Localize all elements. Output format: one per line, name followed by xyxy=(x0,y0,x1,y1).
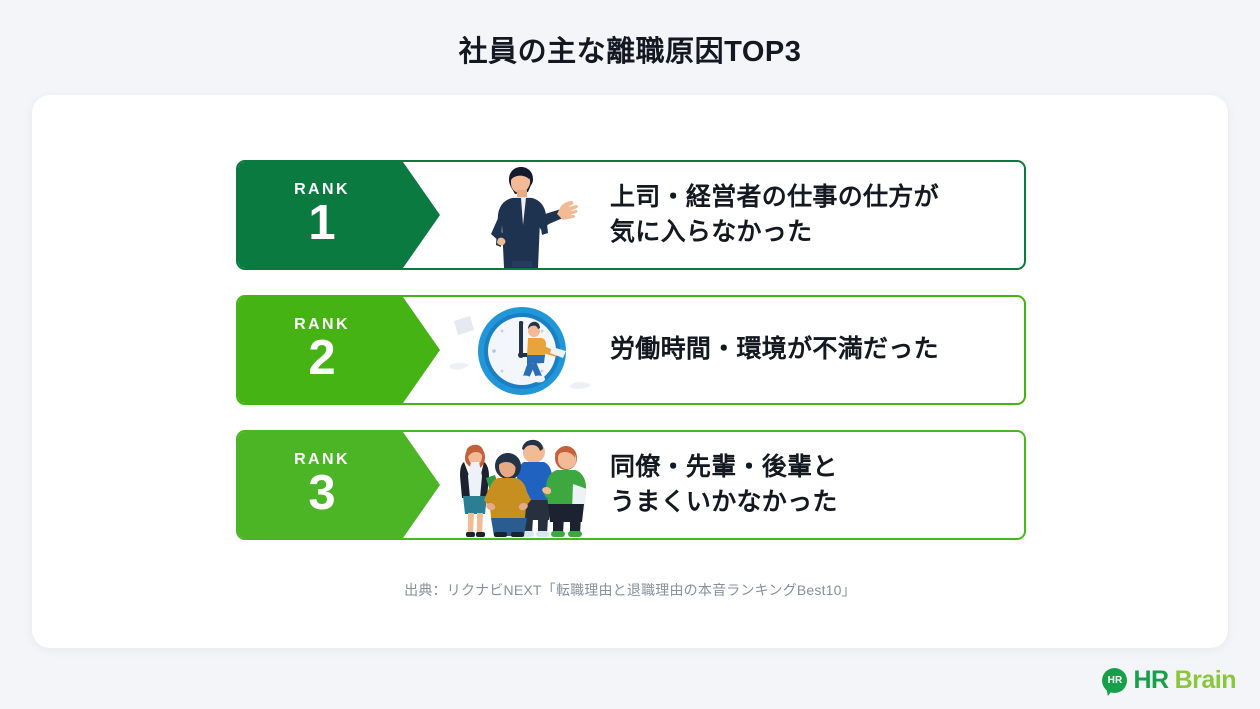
coworkers-group-illustration xyxy=(448,432,594,538)
rank-number: 3 xyxy=(308,469,335,519)
businessman-illustration xyxy=(448,162,594,268)
brand-name-secondary: Brain xyxy=(1175,666,1236,695)
rank-reason-2: 労働時間・環境が不満だった xyxy=(610,297,1012,403)
rank-reason-3: 同僚・先輩・後輩と うまくいかなかった xyxy=(610,432,1012,538)
clock-overtime-illustration xyxy=(448,297,594,403)
rank-reason-1: 上司・経営者の仕事の仕方が 気に入らなかった xyxy=(610,162,1012,268)
rank-badge-3: RANK 3 xyxy=(238,432,440,538)
ranking-list: RANK 1 xyxy=(236,160,1026,540)
rank-reason-line: 同僚・先輩・後輩と xyxy=(610,450,1012,486)
rank-number: 2 xyxy=(308,334,335,384)
rank-badge-2: RANK 2 xyxy=(238,297,440,403)
rank-row: RANK 2 xyxy=(236,295,1026,405)
source-note: 出典：リクナビNEXT「転職理由と退職理由の本音ランキングBest10」 xyxy=(32,580,1228,600)
rank-reason-line: うまくいかなかった xyxy=(610,485,1012,521)
rank-reason-line: 上司・経営者の仕事の仕方が xyxy=(610,180,1012,216)
rank-row: RANK 1 xyxy=(236,160,1026,270)
page-title: 社員の主な離職原因TOP3 xyxy=(0,28,1260,70)
rank-reason-line: 気に入らなかった xyxy=(610,215,1012,251)
content-card: RANK 1 xyxy=(32,95,1228,648)
rank-number: 1 xyxy=(308,199,335,249)
hr-bubble-text: HR xyxy=(1108,675,1123,686)
hr-bubble-icon: HR xyxy=(1102,668,1127,693)
brand-name-primary: HR xyxy=(1133,666,1168,695)
hrbrain-logo: HR HR Brain xyxy=(1102,666,1236,695)
rank-badge-1: RANK 1 xyxy=(238,162,440,268)
rank-reason-line: 労働時間・環境が不満だった xyxy=(610,332,1012,368)
rank-row: RANK 3 xyxy=(236,430,1026,540)
